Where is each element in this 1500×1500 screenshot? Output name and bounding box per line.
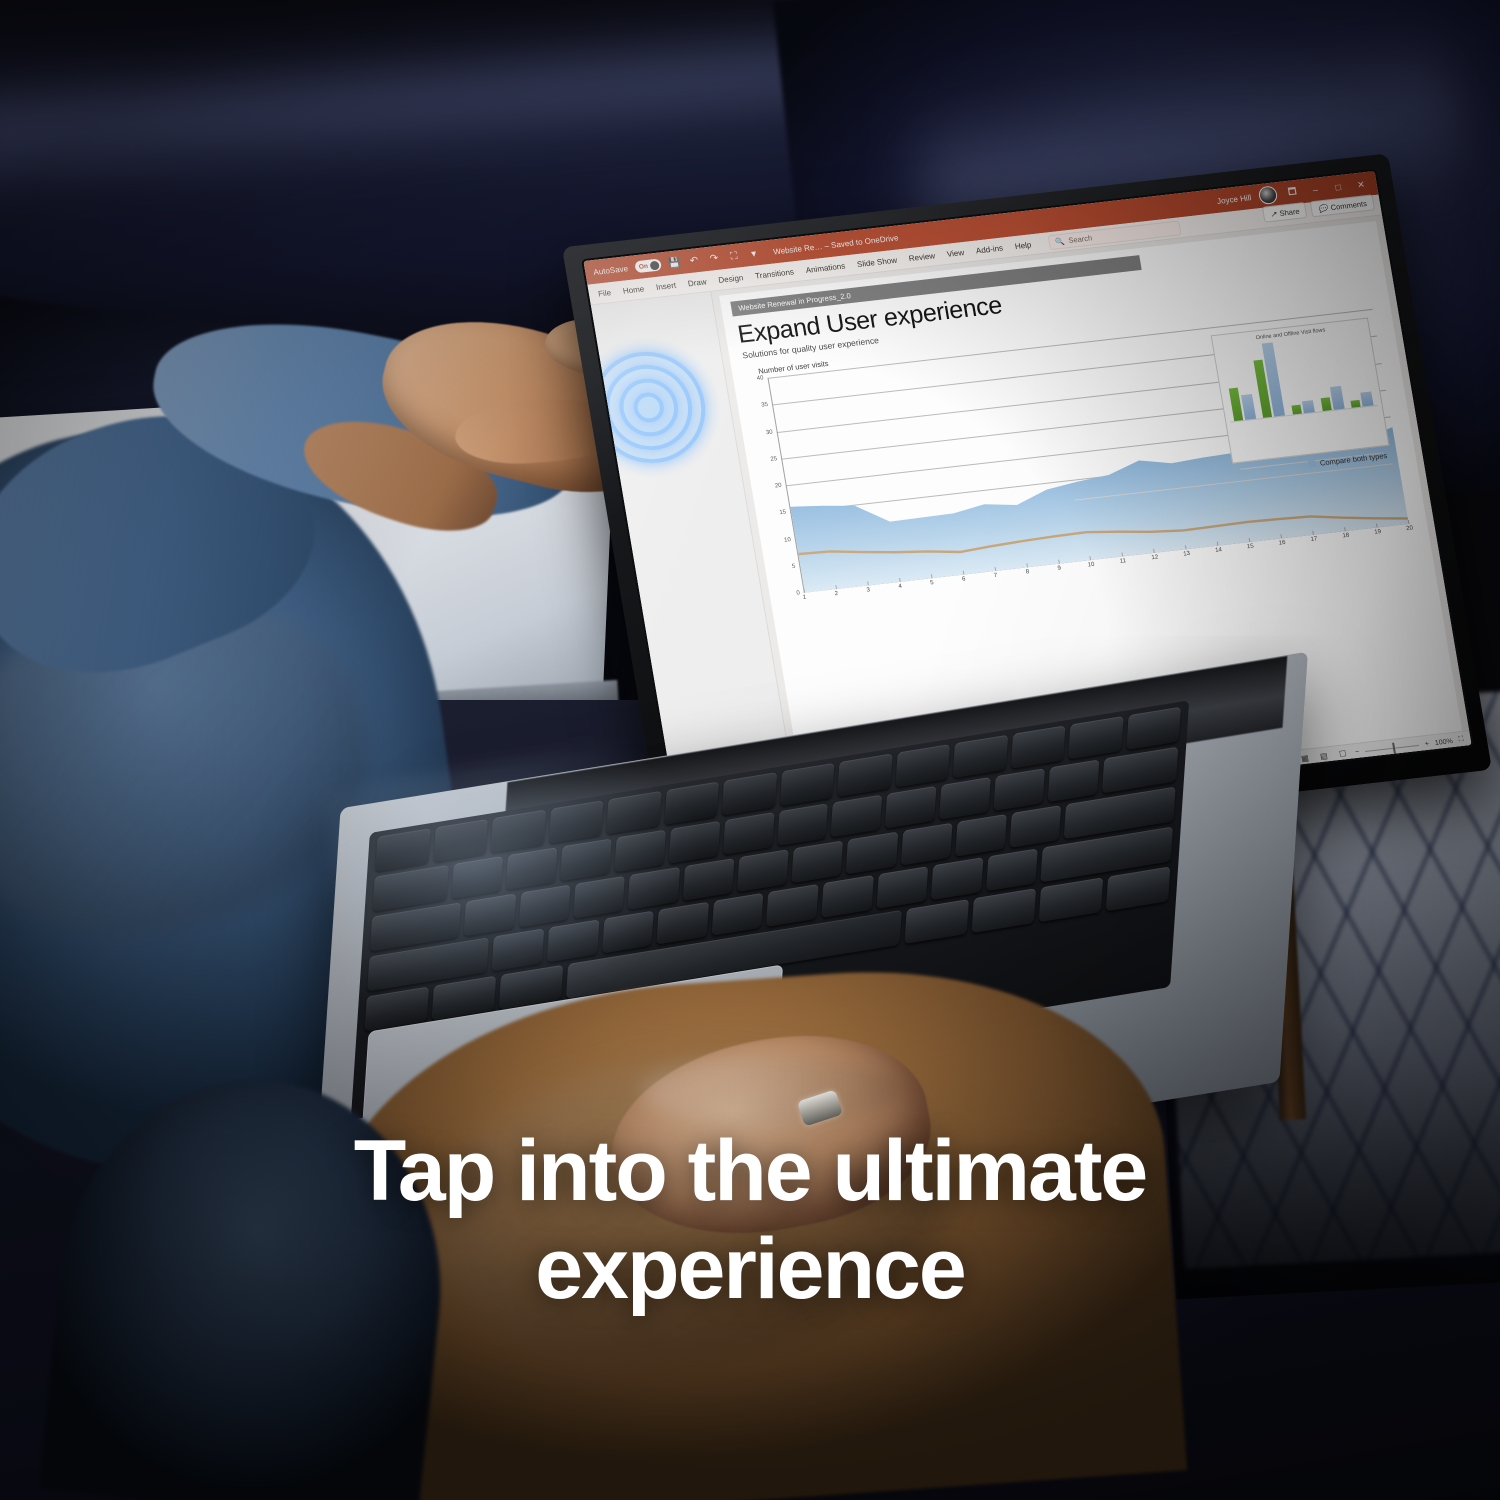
x-axis-tick-label: 18 (1342, 533, 1350, 540)
reading-view-icon[interactable]: ▤ (1316, 750, 1331, 762)
save-icon[interactable]: 💾 (667, 256, 682, 270)
x-axis-tick-label: 8 (1025, 569, 1029, 575)
toggle-knob (650, 260, 660, 270)
keyboard-key[interactable] (657, 902, 709, 945)
keyboard-key[interactable] (821, 875, 873, 918)
ripple-ring-2 (599, 360, 699, 455)
y-axis-label: 35 (754, 402, 769, 410)
headline-line-2: experience (0, 1226, 1500, 1314)
search-placeholder: Search (1068, 233, 1093, 245)
keyboard-key[interactable] (1010, 805, 1062, 848)
y-axis-label: 25 (763, 456, 778, 464)
keyboard-key[interactable] (953, 735, 1008, 778)
x-axis-tick-label: 9 (1057, 566, 1061, 572)
headline-line-1: Tap into the ultimate (354, 1123, 1147, 1219)
x-axis-tick-label: 2 (834, 591, 838, 597)
undo-icon[interactable]: ↶ (687, 253, 702, 267)
keyboard-key[interactable] (1126, 707, 1181, 750)
keyboard-key[interactable] (1106, 866, 1170, 911)
keyboard-key[interactable] (548, 800, 603, 843)
keyboard-key[interactable] (628, 867, 680, 910)
inset-bar-online (1229, 388, 1243, 421)
zoom-slider-handle[interactable] (1392, 742, 1396, 753)
x-axis-tick-label: 13 (1183, 551, 1191, 558)
keyboard-key[interactable] (519, 885, 571, 928)
x-axis-tick-label: 6 (962, 576, 966, 582)
keyboard-key[interactable] (491, 810, 546, 853)
x-axis-tick-label: 16 (1278, 540, 1286, 547)
y-axis-label: 15 (772, 510, 787, 518)
keyboard-key[interactable] (614, 830, 666, 873)
inset-bar-offline (1330, 386, 1345, 410)
keyboard-key[interactable] (433, 819, 488, 862)
keyboard-key[interactable] (560, 838, 612, 881)
y-axis-label: 0 (785, 590, 800, 598)
inset-bar-online (1351, 400, 1361, 408)
inset-bar-group (1222, 346, 1256, 421)
zoom-level[interactable]: 100% (1434, 738, 1453, 747)
tab-draw[interactable]: Draw (687, 277, 707, 288)
comments-label: Comments (1330, 199, 1368, 212)
x-axis-tick-label: 1 (803, 595, 807, 601)
tab-slide-show[interactable]: Slide Show (856, 255, 897, 268)
keyboard-key[interactable] (602, 911, 654, 954)
zoom-slider[interactable] (1365, 744, 1419, 751)
keyboard-key[interactable] (711, 893, 763, 936)
keyboard-key[interactable] (1068, 716, 1123, 759)
inset-bar-offline (1241, 394, 1256, 420)
keyboard-key[interactable] (1039, 877, 1103, 922)
tab-help[interactable]: Help (1014, 240, 1032, 251)
ripple-ring-3 (615, 376, 682, 440)
advertisement-image: AutoSave On 💾 ↶ ↷ ⛶ ▾ Website Re… – Save… (0, 0, 1500, 1500)
keyboard-key[interactable] (1048, 759, 1100, 802)
keyboard-key[interactable] (955, 814, 1007, 857)
tab-review[interactable]: Review (908, 251, 936, 263)
keyboard-key[interactable] (876, 866, 928, 909)
tab-insert[interactable]: Insert (655, 280, 676, 291)
tab-design[interactable]: Design (718, 273, 744, 285)
x-axis-tick-label: 19 (1374, 529, 1382, 536)
x-axis-tick-label: 20 (1406, 525, 1414, 532)
x-axis-tick-label: 12 (1151, 554, 1159, 561)
tab-file[interactable]: File (597, 288, 611, 298)
tab-view[interactable]: View (946, 248, 965, 259)
keyboard-key[interactable] (837, 753, 892, 796)
keyboard-key[interactable] (737, 849, 789, 892)
keyboard-key[interactable] (464, 893, 516, 936)
keyboard-key[interactable] (506, 847, 558, 890)
autosave-label: AutoSave (593, 264, 629, 277)
maximize-icon[interactable]: □ (1330, 181, 1347, 193)
comment-icon: 💬 (1318, 203, 1329, 213)
search-icon: 🔍 (1054, 236, 1065, 246)
tab-animations[interactable]: Animations (805, 261, 846, 274)
keyboard-key[interactable] (451, 856, 503, 899)
x-axis-tick-label: 10 (1087, 562, 1095, 569)
tab-home[interactable]: Home (622, 284, 645, 295)
close-icon[interactable]: ✕ (1353, 178, 1370, 191)
tab-transitions[interactable]: Transitions (754, 267, 794, 280)
keyboard-key[interactable] (664, 782, 719, 825)
redo-icon[interactable]: ↷ (706, 251, 721, 265)
zoom-in-button[interactable]: + (1424, 740, 1429, 747)
present-icon[interactable]: ⛶ (726, 249, 741, 263)
x-axis-tick-label: 11 (1119, 558, 1126, 565)
keyboard-key[interactable] (895, 744, 950, 787)
y-axis-label: 10 (776, 537, 791, 545)
keyboard-key[interactable] (375, 828, 430, 871)
share-label: Share (1279, 206, 1300, 217)
x-axis-tick-label: 17 (1310, 536, 1318, 543)
keyboard-key[interactable] (972, 888, 1036, 933)
keyboard-key[interactable] (831, 795, 883, 838)
legend-swatch (1308, 460, 1316, 468)
inset-bar-offline (1360, 391, 1373, 406)
marketing-headline: Tap into the ultimate experience (0, 1128, 1500, 1313)
inset-bar-online (1291, 404, 1301, 414)
area-chart[interactable]: 4035302520151050 12345678910111213141516… (750, 309, 1413, 617)
inset-bar-group (1310, 336, 1344, 411)
more-icon[interactable]: ▾ (746, 247, 761, 261)
inset-bar-offline (1302, 400, 1315, 413)
keyboard-key[interactable] (846, 832, 898, 875)
slideshow-icon[interactable]: ☐ (1335, 747, 1350, 759)
y-axis-label: 20 (767, 483, 782, 491)
inset-bar-group (1251, 342, 1285, 417)
keyboard-key[interactable] (777, 803, 829, 846)
x-axis-tick-label: 4 (898, 584, 902, 590)
keyboard-key[interactable] (573, 876, 625, 919)
keyboard-key[interactable] (905, 899, 969, 944)
keyboard-key[interactable] (939, 777, 991, 820)
x-axis-tick-label: 3 (866, 587, 870, 593)
keyboard-key[interactable] (722, 772, 777, 815)
keyboard-key[interactable] (682, 858, 734, 901)
x-axis-tick-label: 15 (1247, 544, 1255, 551)
inset-bar-group (1339, 332, 1373, 407)
keyboard-key[interactable] (722, 812, 774, 855)
keyboard-key[interactable] (668, 821, 720, 864)
keyboard-key[interactable] (766, 884, 818, 927)
keyboard-key[interactable] (547, 919, 599, 962)
x-axis-tick-label: 5 (930, 580, 934, 586)
y-axis-label: 40 (749, 375, 764, 383)
tab-add-ins[interactable]: Add-ins (975, 243, 1003, 255)
keyboard-key[interactable] (372, 865, 448, 912)
keyboard-key[interactable] (1102, 747, 1178, 794)
keyboard-key[interactable] (492, 928, 544, 971)
inset-bar-group (1281, 339, 1315, 414)
inset-bar-chart[interactable]: Online and Offline Visit flows (1211, 317, 1390, 463)
keyboard-key[interactable] (606, 791, 661, 834)
keyboard-key[interactable] (900, 823, 952, 866)
x-axis-tick-label: 7 (994, 573, 998, 579)
keyboard-key[interactable] (931, 857, 983, 900)
inset-bar-online (1320, 397, 1331, 411)
ripple-ring-4 (631, 391, 666, 424)
share-icon: ↗ (1270, 209, 1278, 219)
hand-knuckles (640, 1055, 900, 1125)
keyboard-key[interactable] (885, 786, 937, 829)
y-axis-label: 30 (758, 429, 773, 437)
fit-to-window-icon[interactable]: ⛶ (1458, 736, 1464, 744)
autosave-state: On (638, 262, 648, 270)
tick-mark (1408, 520, 1410, 524)
autosave-toggle[interactable]: On (634, 258, 662, 273)
keyboard-key[interactable] (779, 763, 834, 806)
keyboard-key[interactable] (986, 848, 1038, 891)
keyboard-key[interactable] (1010, 725, 1065, 768)
keyboard-key[interactable] (791, 840, 843, 883)
keyboard-key[interactable] (994, 768, 1046, 811)
minimize-icon[interactable]: – (1307, 184, 1324, 196)
zoom-out-button[interactable]: − (1355, 748, 1360, 755)
inset-plot-area (1218, 332, 1378, 423)
y-axis-label: 5 (781, 563, 796, 571)
x-axis-tick-label: 14 (1215, 547, 1223, 554)
user-name[interactable]: Joyce Hill (1216, 193, 1252, 206)
user-avatar[interactable] (1258, 185, 1279, 205)
restore-down-icon[interactable]: 🗖 (1284, 184, 1302, 201)
